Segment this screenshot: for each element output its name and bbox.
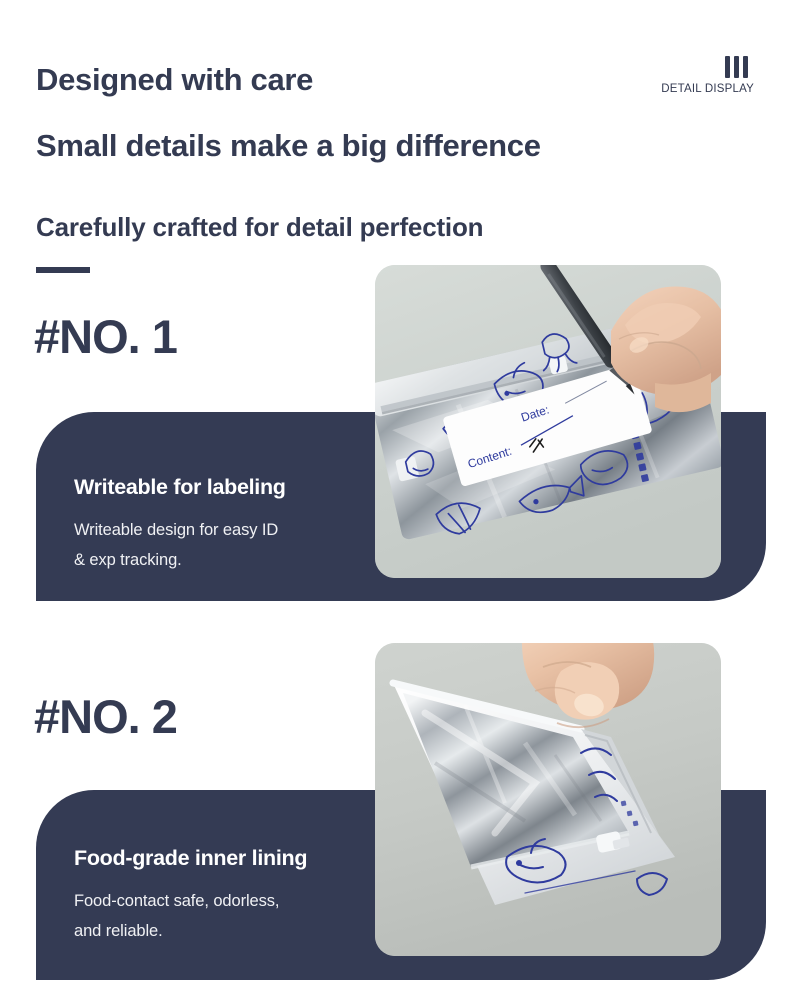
feature-card-1-description-line-2: & exp tracking.	[74, 545, 278, 575]
headline-primary: Designed with care	[36, 62, 313, 98]
feature-card-2-description-line-1: Food-contact safe, odorless,	[74, 886, 279, 916]
feature-card-2-description-line-2: and reliable.	[74, 916, 279, 946]
section-number-1: #NO. 1	[34, 309, 177, 364]
feature-card-1-title: Writeable for labeling	[74, 475, 286, 500]
section-number-2: #NO. 2	[34, 689, 177, 744]
headline-secondary: Small details make a big difference	[36, 128, 541, 164]
three-vertical-bars-icon	[725, 56, 748, 78]
writeable-label-photo: Content: Date:	[375, 265, 721, 578]
feature-card-2-title: Food-grade inner lining	[74, 846, 307, 871]
badge-label: DETAIL DISPLAY	[661, 83, 754, 95]
subtitle-divider	[36, 267, 90, 273]
feature-card-1-description-line-1: Writeable design for easy ID	[74, 515, 278, 545]
feature-card-1-description: Writeable design for easy ID & exp track…	[74, 515, 278, 575]
feature-card-2-description: Food-contact safe, odorless, and reliabl…	[74, 886, 279, 946]
section-subtitle: Carefully crafted for detail perfection	[36, 212, 483, 243]
inner-lining-photo	[375, 643, 721, 956]
detail-display-badge: DETAIL DISPLAY	[661, 56, 754, 95]
writeable-label-photo-graphic: Content: Date:	[375, 265, 721, 578]
inner-lining-photo-graphic	[375, 643, 721, 956]
detail-display-page: Designed with care Small details make a …	[0, 0, 790, 1000]
